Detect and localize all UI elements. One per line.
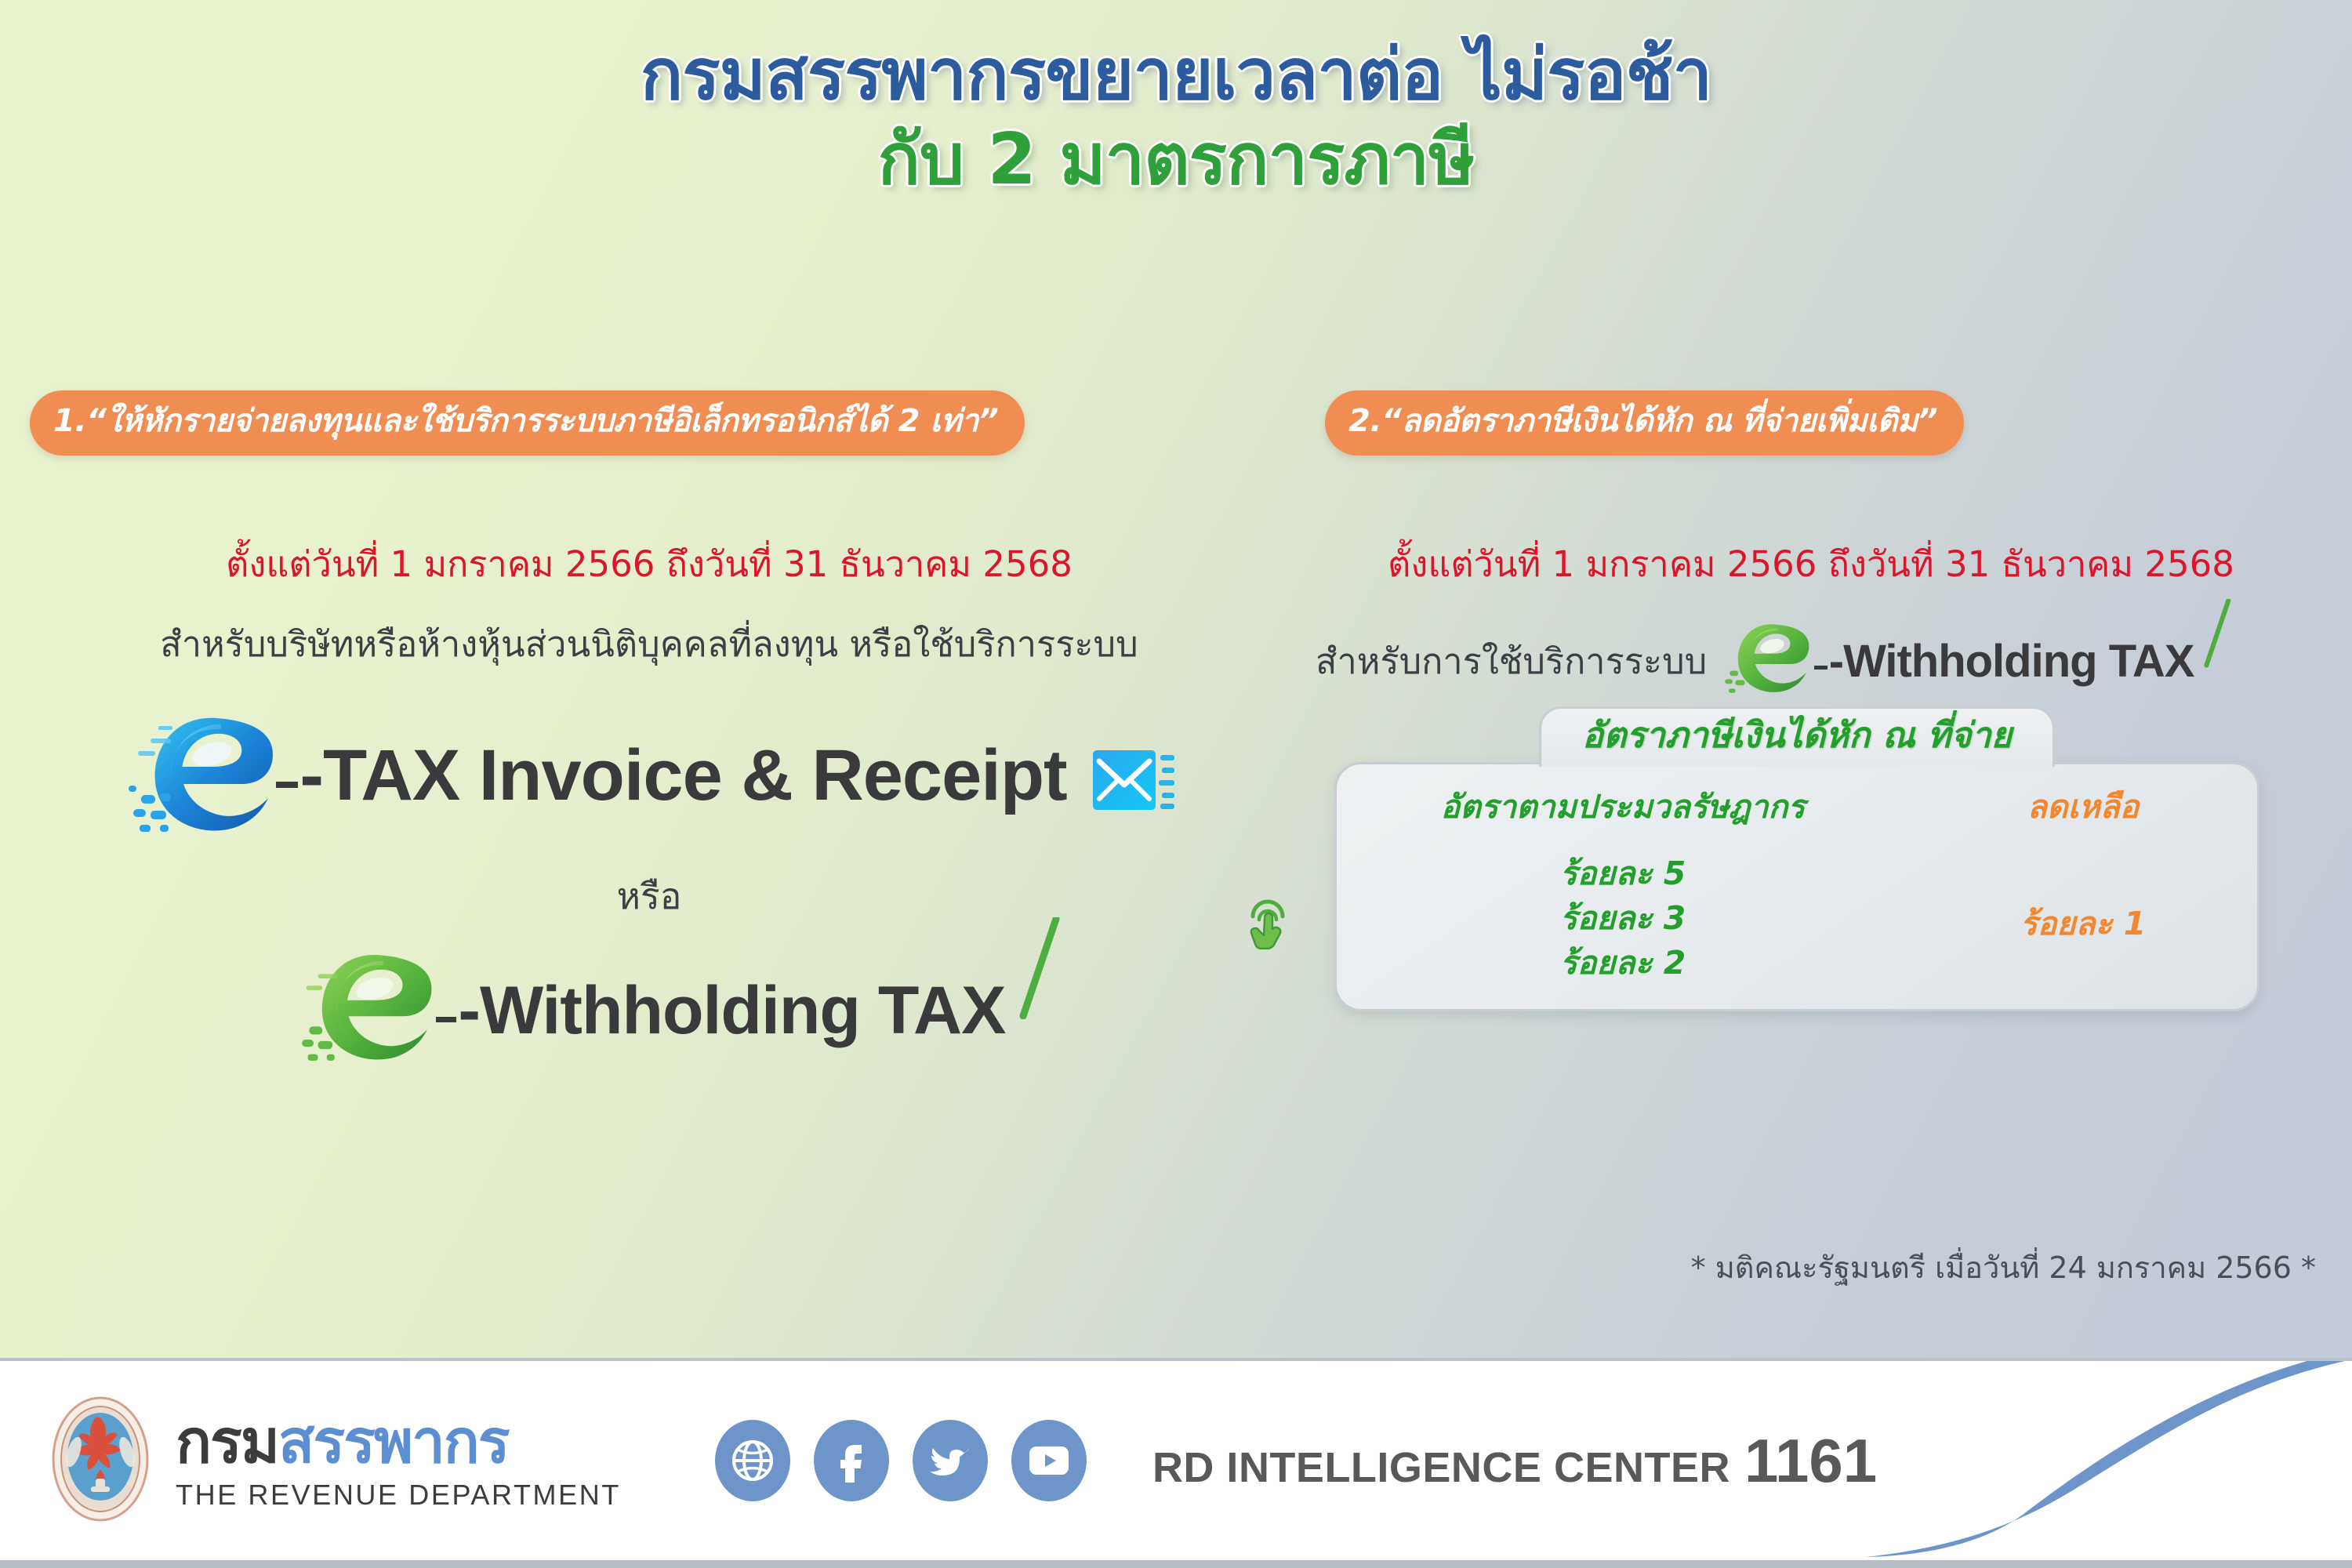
e-withholding-line-2: TAX (878, 973, 1006, 1048)
rd-intelligence-center-number: 1161 (1744, 1425, 1877, 1497)
measure-2-date-range: ตั้งแต่วันที่ 1 มกราคม 2566 ถึงวันที่ 31… (1301, 542, 2321, 588)
e-tax-line-1: -TAX Invoice & (276, 735, 811, 815)
revenue-department-wordmark: กรมสรรพากร THE REVENUE DEPARTMENT (176, 1412, 621, 1509)
green-e-swoosh-icon (293, 944, 436, 1078)
green-slash-icon (2202, 599, 2234, 675)
infographic-poster: กรมสรรพากรขยายเวลาต่อ ไม่รอช้า กับ 2 มาต… (0, 0, 2352, 1568)
rate-column-reduced: ลดเหลือ ร้อยละ 1 (1909, 788, 2257, 992)
measure-1-date-range: ตั้งแต่วันที่ 1 มกราคม 2566 ถึงวันที่ 31… (30, 542, 1269, 588)
dash-glyph (436, 1017, 456, 1022)
title-line-2: กับ 2 มาตรการภาษี (0, 119, 2352, 201)
youtube-icon[interactable] (1011, 1420, 1087, 1501)
e-withholding-tax-logo-inline: -Withholding TAX (1719, 617, 2194, 706)
rate-card-body: อัตราตามประมวลรัษฎากร ร้อยละ 5 ร้อยละ 3 … (1337, 764, 2257, 1009)
rate-column-reduced-values: ร้อยละ 1 (2020, 902, 2147, 946)
e-withholding-line-1: -Withholding (1814, 636, 2109, 687)
e-withholding-tax-logo: -Withholding TAX (30, 944, 1269, 1078)
rate-value: ร้อยละ 1 (2020, 902, 2147, 946)
social-links (715, 1420, 1087, 1501)
rate-column-statutory-header: อัตราตามประมวลรัษฎากร (1441, 788, 1806, 826)
rd-intelligence-center-label: RD INTELLIGENCE CENTER (1152, 1443, 1730, 1492)
title-line-1: กรมสรรพากรขยายเวลาต่อ ไม่รอช้า (0, 34, 2352, 116)
measure-1-column: 1.“ให้หักรายจ่ายลงทุนและใช้บริการระบบภาษ… (30, 390, 1269, 1078)
revenue-department-logo: กรมสรรพากร THE REVENUE DEPARTMENT (47, 1394, 621, 1528)
page-footer: กรมสรรพากร THE REVENUE DEPARTMENT (0, 1358, 2352, 1568)
rate-card-title-tab: อัตราภาษีเงินได้หัก ณ ที่จ่าย (1539, 706, 2055, 767)
measure-1-pill: 1.“ให้หักรายจ่ายลงทุนและใช้บริการระบบภาษ… (30, 390, 1025, 456)
org-name-thai: กรมสรรพากร (176, 1412, 621, 1472)
or-label: หรือ (30, 868, 1269, 925)
dash-glyph (1814, 666, 1828, 670)
measure-2-column: 2.“ลดอัตราภาษีเงินได้หัก ณ ที่จ่ายเพิ่มเ… (1301, 390, 2321, 1011)
blue-e-swoosh-icon (124, 707, 278, 849)
dash-glyph (276, 782, 298, 788)
e-withholding-line-1: -Withholding (436, 973, 878, 1048)
rd-intelligence-center: RD INTELLIGENCE CENTER 1161 (1152, 1425, 1877, 1497)
rate-card-title: อัตราภาษีเงินได้หัก ณ ที่จ่าย (1582, 715, 2012, 756)
green-e-swoosh-icon (1719, 617, 1812, 706)
facebook-icon[interactable] (814, 1420, 889, 1501)
envelope-icon (1093, 749, 1174, 822)
rate-column-reduced-header: ลดเหลือ (2027, 788, 2140, 826)
e-withholding-line-2: TAX (2109, 636, 2194, 687)
measure-2-description-row: สำหรับการใช้บริการระบบ (1301, 617, 2321, 706)
measure-1-description: สำหรับบริษัทหรือห้างหุ้นส่วนนิติบุคคลที่… (30, 622, 1269, 668)
rate-column-statutory-values: ร้อยละ 5 ร้อยละ 3 ร้อยละ 2 (1560, 851, 1686, 985)
e-tax-line-2: Receipt (811, 735, 1174, 815)
cabinet-resolution-footnote: * มติคณะรัฐมนตรี เมื่อวันที่ 24 มกราคม 2… (1691, 1243, 2316, 1291)
website-globe-icon[interactable] (715, 1420, 790, 1501)
rate-column-statutory: อัตราตามประมวลรัษฎากร ร้อยละ 5 ร้อยละ 3 … (1337, 788, 1909, 992)
touch-icon (1243, 895, 1292, 960)
rate-value: ร้อยละ 5 (1560, 851, 1686, 896)
e-tax-invoice-receipt-logo: -TAX Invoice & Receipt (30, 707, 1269, 849)
org-name-english: THE REVENUE DEPARTMENT (176, 1481, 621, 1509)
twitter-icon[interactable] (913, 1420, 988, 1501)
e-withholding-tax-wordmark: -Withholding TAX (436, 972, 1005, 1050)
green-slash-icon (1017, 917, 1064, 1029)
garuda-emblem-icon (47, 1394, 154, 1528)
e-withholding-tax-wordmark-inline: -Withholding TAX (1814, 635, 2194, 688)
page-title: กรมสรรพากรขยายเวลาต่อ ไม่รอช้า กับ 2 มาต… (0, 34, 2352, 201)
withholding-rate-card: อัตราภาษีเงินได้หัก ณ ที่จ่าย อัตราตามปร… (1334, 762, 2259, 1011)
decorative-blue-swoosh (1866, 1358, 2352, 1560)
rate-value: ร้อยละ 2 (1560, 941, 1686, 985)
measure-2-pill: 2.“ลดอัตราภาษีเงินได้หัก ณ ที่จ่ายเพิ่มเ… (1325, 390, 1964, 456)
rate-value: ร้อยละ 3 (1560, 896, 1686, 941)
e-tax-invoice-receipt-wordmark: -TAX Invoice & Receipt (276, 735, 1174, 822)
measure-2-description: สำหรับการใช้บริการระบบ (1316, 639, 1707, 685)
